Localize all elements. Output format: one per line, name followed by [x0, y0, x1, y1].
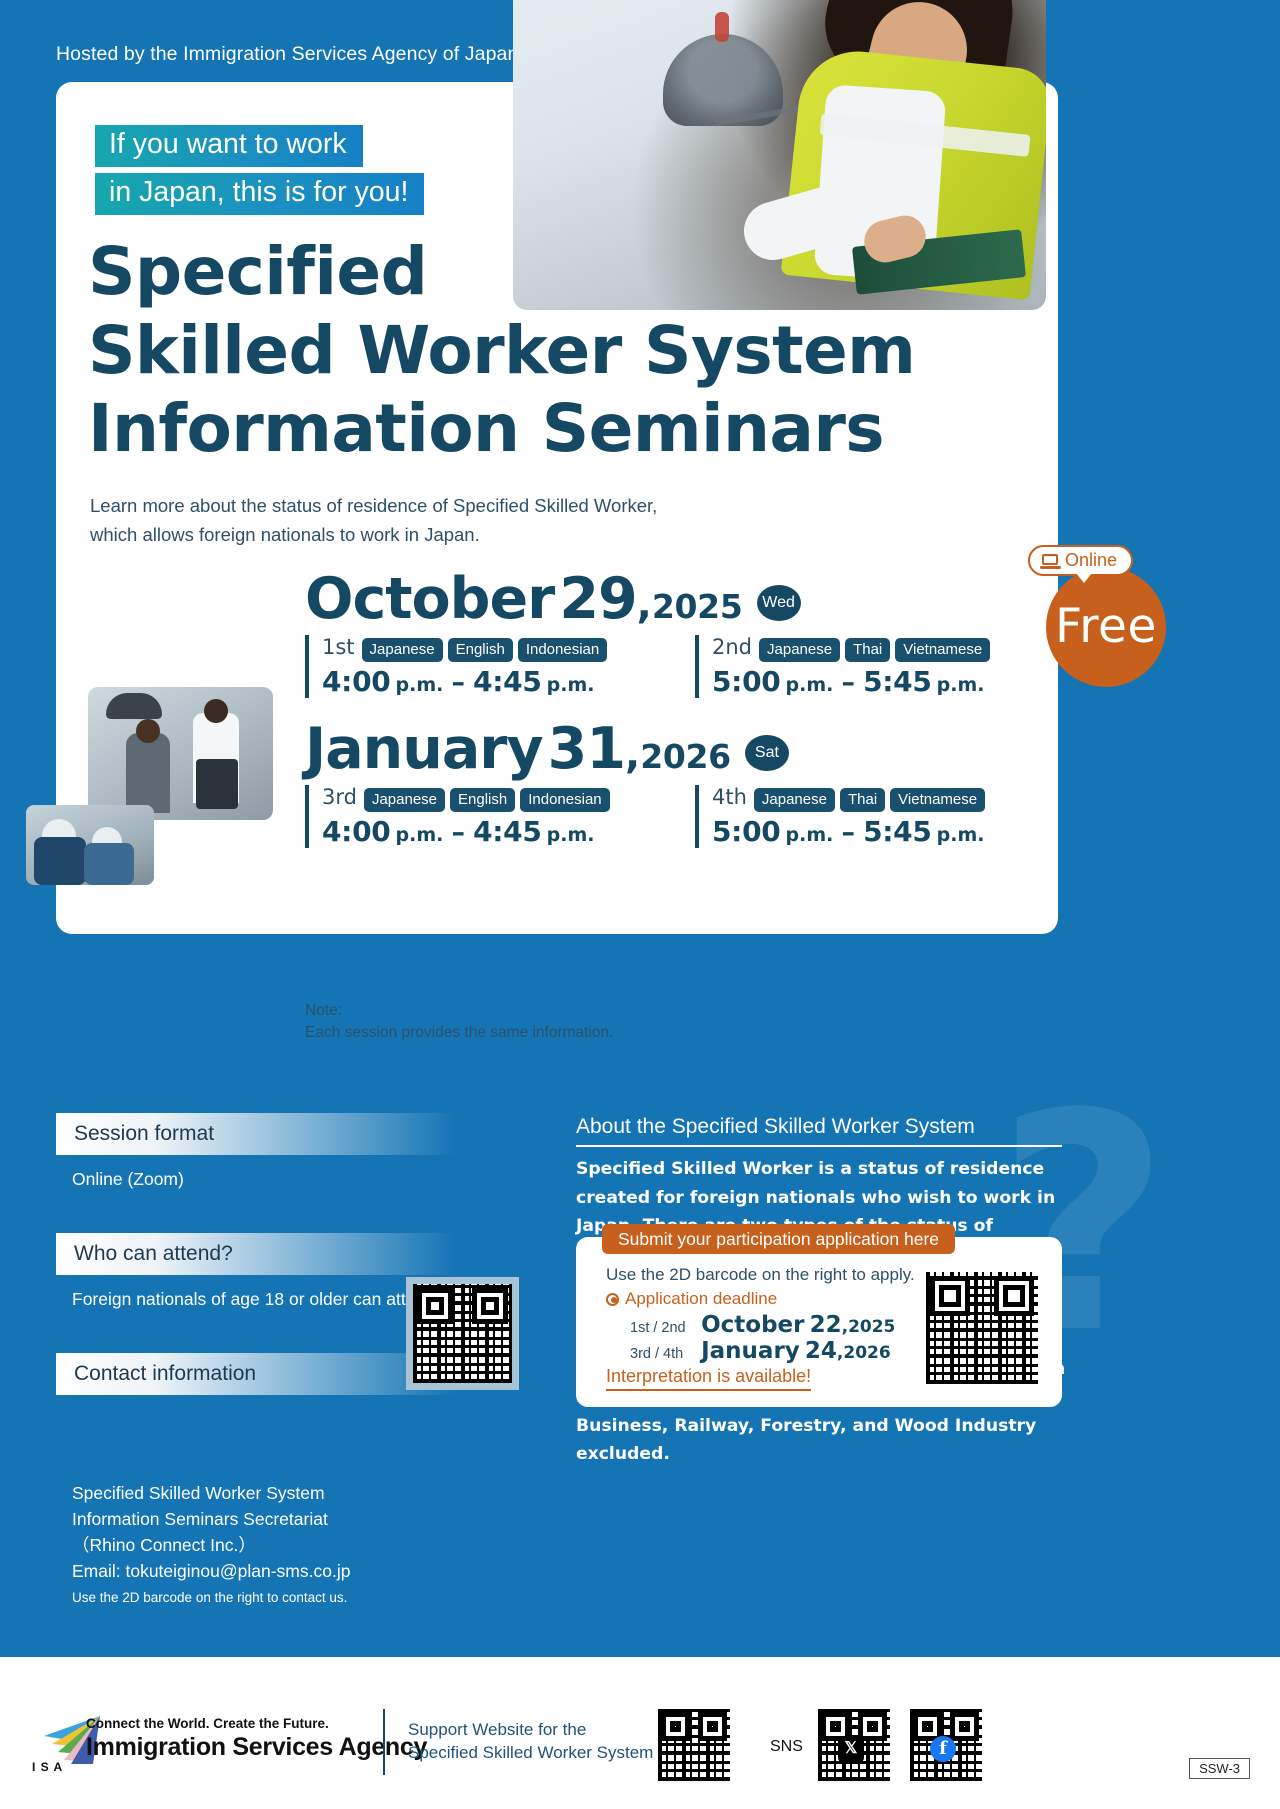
title-line-1: Specified [88, 233, 915, 312]
session-1-lang-1: Japanese [362, 638, 443, 662]
support-line-2: Specified Skilled Worker System [408, 1741, 653, 1764]
online-label: Online [1065, 550, 1117, 571]
photo-office-consultation [88, 687, 273, 820]
free-label: Free [1055, 599, 1157, 654]
session-2-start: 5:00 [712, 665, 780, 698]
lead-line-1: Learn more about the status of residence… [90, 492, 657, 521]
deadline-2-day: 24 [805, 1338, 837, 1364]
tagline-line-2: in Japan, this is for you! [95, 173, 424, 215]
agency-tagline: Connect the World. Create the Future. [86, 1716, 329, 1731]
laptop-icon [1041, 554, 1060, 568]
section-heading-label: Contact information [74, 1362, 256, 1386]
deadline-1-sessions: 1st / 2nd [630, 1320, 696, 1336]
date-2-day: 31 [548, 716, 625, 782]
date-2-comma: , [625, 732, 640, 778]
radio-bullet-icon [606, 1293, 619, 1306]
session-1-dash: – [448, 667, 468, 698]
note-label: Note: [305, 1000, 613, 1022]
lead-line-2: which allows foreign nationals to work i… [90, 521, 657, 550]
session-row-2: 2ndJapaneseThaiVietnamese 5:00 p.m. – 5:… [695, 635, 995, 698]
session-1-ordinal: 1st [322, 635, 355, 659]
deadline-row-1: 1st / 2nd October 22,2025 [630, 1312, 895, 1338]
section-heading-session-format: Session format [56, 1113, 456, 1155]
session-1-lang-2: English [448, 638, 513, 662]
session-row-4: 4thJapaneseThaiVietnamese 5:00 p.m. – 5:… [695, 785, 990, 848]
photo-construction-workers [26, 805, 154, 885]
session-2-dash: – [838, 667, 858, 698]
application-deadline-label: Application deadline [625, 1289, 777, 1309]
tagline-line-1: If you want to work [95, 125, 363, 167]
agency-name: Immigration Services Agency [86, 1733, 427, 1762]
session-4-end: 5:45 [863, 815, 931, 848]
document-code: SSW-3 [1189, 1758, 1250, 1779]
session-4-dash: – [838, 817, 858, 848]
session-row-3: 3rdJapaneseEnglishIndonesian 4:00 p.m. –… [305, 785, 615, 848]
deadline-1-month: October [701, 1312, 804, 1338]
facebook-icon: f [930, 1736, 956, 1762]
session-2-lang-1: Japanese [759, 638, 840, 662]
deadline-row-2: 3rd / 4th January 24,2026 [630, 1338, 891, 1364]
application-instruction: Use the 2D barcode on the right to apply… [606, 1265, 915, 1285]
session-3-lang-3: Indonesian [520, 788, 609, 812]
session-4-lang-1: Japanese [754, 788, 835, 812]
session-note: Note: Each session provides the same inf… [305, 1000, 613, 1044]
submit-application-button[interactable]: Submit your participation application he… [602, 1224, 955, 1254]
about-heading: About the Specified Skilled Worker Syste… [576, 1115, 1062, 1147]
contact-qr-hint: Use the 2D barcode on the right to conta… [72, 1588, 350, 1608]
contact-line-1: Specified Skilled Worker System [72, 1481, 350, 1507]
date-1-comma: , [637, 582, 652, 628]
deadline-1-day: 22 [810, 1312, 842, 1338]
deadline-2-month: January [701, 1338, 800, 1364]
session-4-time: 5:00 p.m. – 5:45 p.m. [712, 815, 990, 848]
session-1-lang-3: Indonesian [518, 638, 607, 662]
date-2-month: January [305, 716, 543, 782]
date-2-day-of-week: Sat [745, 735, 789, 771]
session-format-body: Online (Zoom) [72, 1166, 184, 1192]
note-text: Each session provides the same informati… [305, 1022, 613, 1044]
date-block-2: January 31,2026 Sat [305, 716, 789, 782]
session-1-start-ampm: p.m. [396, 674, 444, 696]
session-3-dash: – [448, 817, 468, 848]
session-1-end-ampm: p.m. [547, 674, 595, 696]
contact-line-2: Information Seminars Secretariat [72, 1507, 350, 1533]
footer-divider [383, 1709, 385, 1775]
support-website-label: Support Website for the Specified Skille… [408, 1718, 653, 1765]
session-2-end-ampm: p.m. [937, 674, 985, 696]
section-heading-label: Who can attend? [74, 1242, 233, 1266]
section-heading-label: Session format [74, 1122, 214, 1146]
session-2-lang-3: Vietnamese [895, 638, 990, 662]
application-deadline-heading: Application deadline [606, 1289, 777, 1309]
contact-line-3: （Rhino Connect Inc.） [72, 1533, 350, 1559]
x-twitter-icon: 𝕏 [838, 1736, 864, 1762]
section-heading-contact-information: Contact information [56, 1353, 456, 1395]
session-3-lang-2: English [450, 788, 515, 812]
session-2-ordinal: 2nd [712, 635, 752, 659]
contact-details: Specified Skilled Worker System Informat… [72, 1481, 350, 1608]
session-2-lang-2: Thai [845, 638, 890, 662]
support-line-1: Support Website for the [408, 1718, 653, 1741]
host-line: Hosted by the Immigration Services Agenc… [56, 43, 518, 66]
poster-root: ? Hosted by the Immigration Services Age… [0, 0, 1280, 1809]
interpretation-note: Interpretation is available! [606, 1366, 811, 1391]
contact-email: Email: tokuteiginou@plan-sms.co.jp [72, 1559, 350, 1585]
session-1-start: 4:00 [322, 665, 390, 698]
session-4-lang-2: Thai [840, 788, 885, 812]
session-4-ordinal: 4th [712, 785, 747, 809]
deadline-1-year: 2025 [848, 1317, 895, 1337]
session-3-lang-1: Japanese [364, 788, 445, 812]
date-1-day-of-week: Wed [757, 585, 801, 621]
session-3-end: 4:45 [473, 815, 541, 848]
session-2-end: 5:45 [863, 665, 931, 698]
session-3-end-ampm: p.m. [547, 824, 595, 846]
online-pill: Online [1028, 545, 1133, 576]
date-1-year: 2025 [652, 587, 743, 626]
session-3-start: 4:00 [322, 815, 390, 848]
title-line-3: Information Seminars [88, 390, 915, 469]
session-row-1: 1stJapaneseEnglishIndonesian 4:00 p.m. –… [305, 635, 612, 698]
application-qr-code[interactable] [926, 1272, 1038, 1384]
session-1-end: 4:45 [473, 665, 541, 698]
deadline-2-year: 2026 [843, 1343, 890, 1363]
free-badge: Free Online [1028, 545, 1213, 690]
free-circle: Free [1046, 567, 1166, 687]
session-2-time: 5:00 p.m. – 5:45 p.m. [712, 665, 995, 698]
session-4-start-ampm: p.m. [786, 824, 834, 846]
date-block-1: October 29,2025 Wed [305, 566, 801, 632]
session-2-start-ampm: p.m. [786, 674, 834, 696]
session-3-time: 4:00 p.m. – 4:45 p.m. [322, 815, 615, 848]
lead-paragraph: Learn more about the status of residence… [90, 492, 657, 549]
isa-abbreviation: I S A [32, 1760, 63, 1774]
section-heading-who-can-attend: Who can attend? [56, 1233, 456, 1275]
who-can-attend-body: Foreign nationals of age 18 or older can… [72, 1286, 440, 1312]
support-website-qr-code[interactable] [658, 1709, 730, 1781]
date-1-month: October [305, 566, 554, 632]
session-3-ordinal: 3rd [322, 785, 357, 809]
date-2-year: 2026 [640, 737, 731, 776]
session-4-start: 5:00 [712, 815, 780, 848]
session-3-start-ampm: p.m. [396, 824, 444, 846]
sns-label: SNS [770, 1738, 803, 1756]
date-1-day: 29 [559, 566, 636, 632]
deadline-2-sessions: 3rd / 4th [630, 1346, 696, 1362]
session-1-time: 4:00 p.m. – 4:45 p.m. [322, 665, 612, 698]
session-4-lang-3: Vietnamese [890, 788, 985, 812]
tagline: If you want to work in Japan, this is fo… [95, 125, 424, 215]
title-line-2: Skilled Worker System [88, 312, 915, 391]
contact-qr-code[interactable] [406, 1277, 519, 1390]
page-title: Specified Skilled Worker System Informat… [88, 233, 915, 469]
session-4-end-ampm: p.m. [937, 824, 985, 846]
